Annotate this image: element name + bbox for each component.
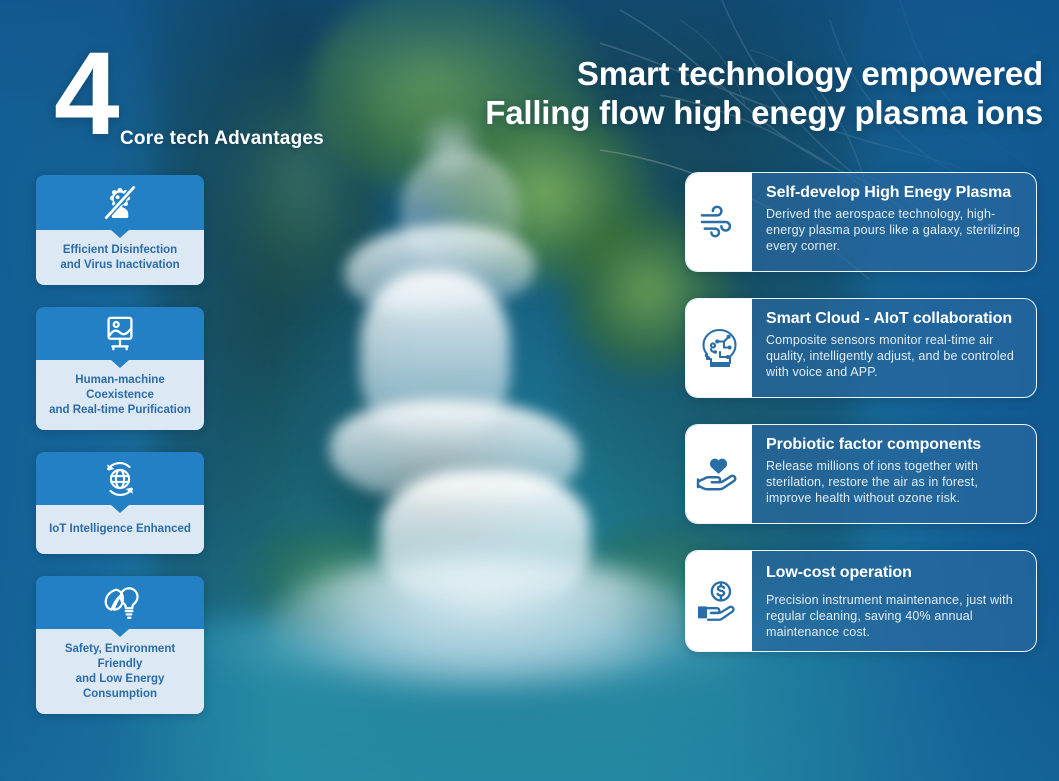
globe-refresh-icon (98, 458, 142, 500)
feature-card-icon-area (686, 551, 752, 651)
left-card-label: Safety, Environment Friendly and Low Ene… (36, 629, 204, 714)
left-card-icon-area (36, 175, 204, 230)
feature-card-low-cost-operation[interactable]: Low-cost operation Precision instrument … (685, 550, 1037, 652)
feature-card-title: Low-cost operation (766, 563, 1023, 583)
feature-card-description: Derived the aerospace technology, high-e… (766, 206, 1023, 254)
left-card-icon-area (36, 307, 204, 360)
feature-card-body: Self-develop High Enegy Plasma Derived t… (752, 173, 1036, 271)
page-title: Smart technology empowered Falling flow … (485, 56, 1043, 130)
human-machine-monitor-icon (101, 314, 139, 354)
feature-card-body: Smart Cloud - AIoT collaboration Composi… (752, 299, 1036, 397)
left-card-label: IoT Intelligence Enhanced (36, 505, 204, 554)
left-card-human-machine-coexistence[interactable]: Human-machine Coexistence and Real-time … (36, 307, 204, 430)
hand-coin-dollar-icon (695, 579, 743, 623)
left-card-label: Human-machine Coexistence and Real-time … (36, 360, 204, 430)
feature-card-body: Probiotic factor components Release mill… (752, 425, 1036, 523)
left-card-iot-intelligence[interactable]: IoT Intelligence Enhanced (36, 452, 204, 554)
left-card-label-line-2: and Low Energy Consumption (44, 672, 196, 702)
left-card-icon-area (36, 576, 204, 629)
right-feature-list: Self-develop High Enegy Plasma Derived t… (685, 172, 1037, 678)
content-layer: 4 Core tech Advantages Smart technology … (0, 0, 1059, 781)
virus-blocked-icon (98, 181, 142, 225)
feature-card-title: Smart Cloud - AIoT collaboration (766, 309, 1023, 329)
hero-subtitle: Core tech Advantages (120, 128, 324, 150)
leaf-bulb-icon (97, 583, 143, 623)
feature-card-description: Release millions of ions together with s… (766, 458, 1023, 506)
wind-icon (697, 203, 741, 241)
page-title-line-2: Falling flow high enegy plasma ions (485, 95, 1043, 130)
feature-card-title: Probiotic factor components (766, 435, 1023, 455)
left-card-label-line-1: IoT Intelligence Enhanced (44, 522, 196, 537)
feature-card-smart-cloud-aiot[interactable]: Smart Cloud - AIoT collaboration Composi… (685, 298, 1037, 398)
feature-card-icon-area (686, 173, 752, 271)
left-card-label-line-2: and Virus Inactivation (44, 258, 196, 273)
left-card-label-line-1: Safety, Environment Friendly (44, 642, 196, 672)
left-card-safety-environment[interactable]: Safety, Environment Friendly and Low Ene… (36, 576, 204, 714)
feature-card-body: Low-cost operation Precision instrument … (752, 551, 1036, 651)
left-card-label-line-1: Efficient Disinfection (44, 243, 196, 258)
left-card-efficient-disinfection[interactable]: Efficient Disinfection and Virus Inactiv… (36, 175, 204, 285)
feature-card-description: Precision instrument maintenance, just w… (766, 592, 1023, 640)
left-advantage-list: Efficient Disinfection and Virus Inactiv… (36, 175, 204, 736)
feature-card-probiotic-factor[interactable]: Probiotic factor components Release mill… (685, 424, 1037, 524)
page-title-line-1: Smart technology empowered (577, 55, 1043, 92)
left-card-label: Efficient Disinfection and Virus Inactiv… (36, 230, 204, 285)
feature-card-icon-area (686, 425, 752, 523)
feature-card-self-develop-plasma[interactable]: Self-develop High Enegy Plasma Derived t… (685, 172, 1037, 272)
feature-card-title: Self-develop High Enegy Plasma (766, 183, 1023, 203)
feature-card-description: Composite sensors monitor real-time air … (766, 332, 1023, 380)
feature-card-icon-area (686, 299, 752, 397)
ai-head-circuit-icon (697, 325, 741, 371)
hand-heart-icon (695, 454, 743, 494)
left-card-label-line-1: Human-machine Coexistence (44, 373, 196, 403)
hero-number: 4 (54, 42, 118, 146)
left-card-label-line-2: and Real-time Purification (44, 403, 196, 418)
left-card-icon-area (36, 452, 204, 505)
